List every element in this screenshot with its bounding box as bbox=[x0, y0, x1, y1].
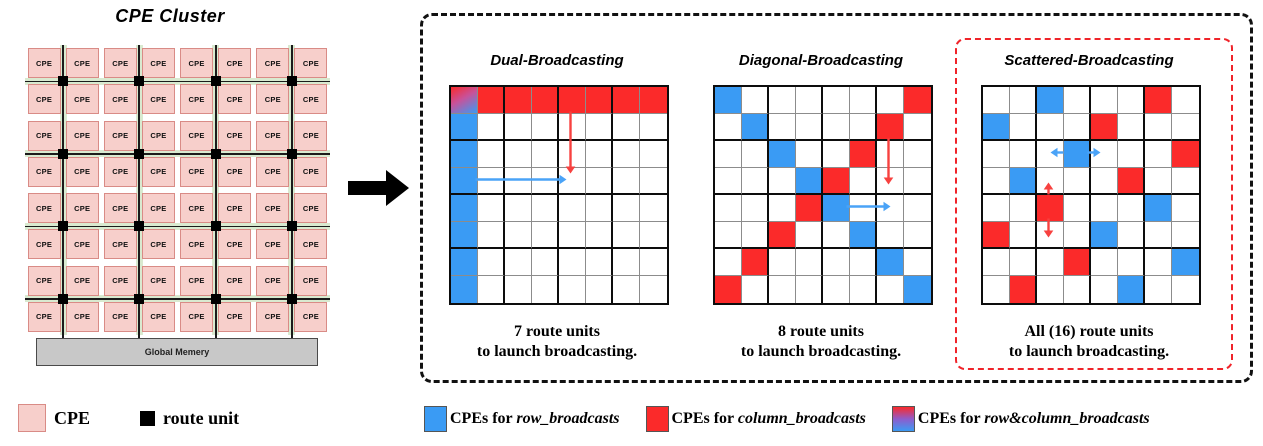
grid-cell[interactable] bbox=[1118, 114, 1145, 141]
grid-cell[interactable] bbox=[451, 168, 478, 195]
grid-cell[interactable] bbox=[478, 276, 505, 303]
cpe-box: CPE bbox=[142, 266, 175, 296]
grid-cell[interactable] bbox=[1172, 141, 1199, 168]
grid-cell[interactable] bbox=[796, 87, 823, 114]
route-unit[interactable] bbox=[211, 149, 221, 159]
grid-cell[interactable] bbox=[1118, 87, 1145, 114]
grid-cell[interactable] bbox=[1118, 222, 1145, 249]
grid-cell[interactable] bbox=[823, 249, 850, 276]
grid-cell[interactable] bbox=[850, 222, 877, 249]
grid-cell[interactable] bbox=[640, 87, 667, 114]
grid-cell[interactable] bbox=[904, 141, 931, 168]
cpe-cell[interactable]: CPE bbox=[292, 45, 330, 81]
grid-cell[interactable] bbox=[451, 114, 478, 141]
grid-cell[interactable] bbox=[850, 195, 877, 222]
broadcast-grid-scattered bbox=[981, 85, 1201, 305]
grid-cell[interactable] bbox=[559, 249, 586, 276]
grid-cell[interactable] bbox=[613, 87, 640, 114]
grid-cell[interactable] bbox=[640, 141, 667, 168]
cpe-cell[interactable]: CPE bbox=[139, 81, 177, 117]
cpe-box: CPE bbox=[104, 266, 137, 296]
grid-cell[interactable] bbox=[1037, 276, 1064, 303]
cpe-cell[interactable]: CPE bbox=[292, 190, 330, 226]
grid-cell[interactable] bbox=[1172, 168, 1199, 195]
grid-cell[interactable] bbox=[796, 168, 823, 195]
cpe-box: CPE bbox=[142, 157, 175, 187]
cpe-cell[interactable]: CPE bbox=[101, 226, 139, 262]
grid-cell[interactable] bbox=[877, 222, 904, 249]
grid-cell[interactable] bbox=[505, 168, 532, 195]
grid-cell[interactable] bbox=[613, 222, 640, 249]
cpe-cluster-panel: CPE Cluster CPECPECPECPECPECPECPECPECPEC… bbox=[0, 0, 415, 446]
grid-cell[interactable] bbox=[1118, 168, 1145, 195]
grid-cell[interactable] bbox=[451, 276, 478, 303]
cpe-box: CPE bbox=[256, 266, 289, 296]
grid-cell[interactable] bbox=[451, 141, 478, 168]
cpe-box: CPE bbox=[180, 266, 213, 296]
grid-cell[interactable] bbox=[983, 168, 1010, 195]
grid-cell[interactable] bbox=[1010, 168, 1037, 195]
grid-cell[interactable] bbox=[1091, 222, 1118, 249]
cpe-cell[interactable]: CPE bbox=[292, 226, 330, 262]
cpe-box: CPE bbox=[142, 229, 175, 259]
grid-cell[interactable] bbox=[451, 222, 478, 249]
grid-cell[interactable] bbox=[1037, 141, 1064, 168]
grid-cell[interactable] bbox=[796, 222, 823, 249]
grid-cell[interactable] bbox=[613, 141, 640, 168]
grid-cell[interactable] bbox=[796, 141, 823, 168]
legend-item-row-broadcasts: CPEs for row_broadcasts bbox=[424, 406, 620, 432]
cpe-cell[interactable]: CPE bbox=[139, 190, 177, 226]
route-unit[interactable] bbox=[287, 221, 297, 231]
caption-line-2: to launch broadcasting. bbox=[713, 342, 929, 362]
cpe-cell[interactable]: CPE bbox=[254, 226, 292, 262]
grid-cell[interactable] bbox=[1172, 222, 1199, 249]
route-unit[interactable] bbox=[58, 221, 68, 231]
grid-cell[interactable] bbox=[877, 168, 904, 195]
grid-cell[interactable] bbox=[532, 195, 559, 222]
grid-cell[interactable] bbox=[1172, 276, 1199, 303]
cpe-box: CPE bbox=[256, 302, 289, 332]
cpe-cell[interactable]: CPE bbox=[216, 263, 254, 299]
grid-cell[interactable] bbox=[769, 141, 796, 168]
grid-cell[interactable] bbox=[1091, 168, 1118, 195]
grid-cell[interactable] bbox=[1010, 141, 1037, 168]
grid-cell[interactable] bbox=[823, 114, 850, 141]
grid-cell[interactable] bbox=[1091, 276, 1118, 303]
grid-cell[interactable] bbox=[769, 195, 796, 222]
grid-cell[interactable] bbox=[769, 168, 796, 195]
grid-cell[interactable] bbox=[613, 249, 640, 276]
route-unit[interactable] bbox=[287, 76, 297, 86]
grid-cell[interactable] bbox=[559, 114, 586, 141]
grid-cell[interactable] bbox=[532, 222, 559, 249]
cpe-cell[interactable]: CPE bbox=[178, 154, 216, 190]
cpe-cell[interactable]: CPE bbox=[25, 299, 63, 335]
grid-cell[interactable] bbox=[769, 114, 796, 141]
grid-cell[interactable] bbox=[877, 141, 904, 168]
grid-cell[interactable] bbox=[715, 114, 742, 141]
cpe-box: CPE bbox=[104, 229, 137, 259]
cpe-box: CPE bbox=[66, 157, 99, 187]
grid-cell[interactable] bbox=[1118, 276, 1145, 303]
grid-cell[interactable] bbox=[478, 87, 505, 114]
caption-line-2: to launch broadcasting. bbox=[981, 342, 1197, 362]
grid-cell[interactable] bbox=[904, 195, 931, 222]
grid-cell[interactable] bbox=[532, 114, 559, 141]
grid-cell[interactable] bbox=[1172, 195, 1199, 222]
grid-cell[interactable] bbox=[796, 114, 823, 141]
cpe-cell[interactable]: CPE bbox=[216, 299, 254, 335]
grid-cell[interactable] bbox=[586, 168, 613, 195]
cpe-box: CPE bbox=[256, 229, 289, 259]
cpe-box: CPE bbox=[294, 84, 327, 114]
cpe-cell[interactable]: CPE bbox=[254, 154, 292, 190]
grid-cell[interactable] bbox=[640, 168, 667, 195]
grid-cell[interactable] bbox=[478, 222, 505, 249]
grid-cell[interactable] bbox=[559, 141, 586, 168]
grid-cell[interactable] bbox=[850, 114, 877, 141]
grid-cell[interactable] bbox=[613, 168, 640, 195]
cpe-cell[interactable]: CPE bbox=[139, 263, 177, 299]
grid-cell[interactable] bbox=[1172, 114, 1199, 141]
cpe-box: CPE bbox=[104, 193, 137, 223]
cpe-cell[interactable]: CPE bbox=[25, 81, 63, 117]
grid-cell[interactable] bbox=[715, 195, 742, 222]
grid-cell[interactable] bbox=[877, 114, 904, 141]
grid-cell[interactable] bbox=[904, 276, 931, 303]
panel-caption-scattered: All (16) route unitsto launch broadcasti… bbox=[981, 322, 1197, 361]
route-unit[interactable] bbox=[58, 76, 68, 86]
grid-cell[interactable] bbox=[505, 114, 532, 141]
grid-cell[interactable] bbox=[1037, 168, 1064, 195]
grid-cell[interactable] bbox=[742, 249, 769, 276]
grid-cell[interactable] bbox=[796, 249, 823, 276]
cpe-cell[interactable]: CPE bbox=[63, 81, 101, 117]
legend-item-column-broadcasts: CPEs for column_broadcasts bbox=[646, 406, 866, 432]
grid-cell[interactable] bbox=[715, 276, 742, 303]
grid-cell[interactable] bbox=[1118, 195, 1145, 222]
grid-cell[interactable] bbox=[586, 141, 613, 168]
cpe-cell[interactable]: CPE bbox=[101, 154, 139, 190]
cpe-cell[interactable]: CPE bbox=[292, 299, 330, 335]
grid-cell[interactable] bbox=[1064, 114, 1091, 141]
grid-cell[interactable] bbox=[1091, 87, 1118, 114]
cpe-cell[interactable]: CPE bbox=[292, 81, 330, 117]
route-unit[interactable] bbox=[58, 294, 68, 304]
grid-cell[interactable] bbox=[715, 87, 742, 114]
grid-cell[interactable] bbox=[1037, 87, 1064, 114]
grid-cell[interactable] bbox=[559, 195, 586, 222]
grid-cell[interactable] bbox=[451, 195, 478, 222]
grid-cell[interactable] bbox=[586, 222, 613, 249]
global-memory-block: Global Memery bbox=[36, 338, 318, 366]
grid-cell[interactable] bbox=[983, 195, 1010, 222]
grid-cell[interactable] bbox=[1010, 195, 1037, 222]
grid-cell[interactable] bbox=[904, 114, 931, 141]
cpe-cell[interactable]: CPE bbox=[139, 154, 177, 190]
grid-cell[interactable] bbox=[1145, 168, 1172, 195]
grid-cell[interactable] bbox=[1091, 249, 1118, 276]
grid-cell[interactable] bbox=[715, 222, 742, 249]
grid-cell[interactable] bbox=[1064, 276, 1091, 303]
grid-cell[interactable] bbox=[1145, 222, 1172, 249]
grid-cell[interactable] bbox=[1037, 114, 1064, 141]
cpe-row: CPECPECPECPECPECPECPECPE bbox=[25, 226, 330, 262]
cpe-cell[interactable]: CPE bbox=[139, 299, 177, 335]
caption-line-1: 8 route units bbox=[713, 322, 929, 342]
grid-cell[interactable] bbox=[1091, 195, 1118, 222]
grid-cell[interactable] bbox=[532, 141, 559, 168]
cpe-cell[interactable]: CPE bbox=[25, 226, 63, 262]
legend-label-row-column-broadcasts: CPEs for row&column_broadcasts bbox=[918, 410, 1150, 428]
grid-cell[interactable] bbox=[742, 168, 769, 195]
grid-cell[interactable] bbox=[877, 195, 904, 222]
broadcast-grid-dual bbox=[449, 85, 669, 305]
grid-cell[interactable] bbox=[742, 87, 769, 114]
grid-cell[interactable] bbox=[823, 222, 850, 249]
cpe-row: CPECPECPECPECPECPECPECPE bbox=[25, 118, 330, 154]
grid-cell[interactable] bbox=[1064, 195, 1091, 222]
cpe-cell[interactable]: CPE bbox=[178, 226, 216, 262]
grid-cell[interactable] bbox=[742, 222, 769, 249]
grid-cell[interactable] bbox=[559, 276, 586, 303]
cpe-box: CPE bbox=[180, 121, 213, 151]
grid-cell[interactable] bbox=[1172, 249, 1199, 276]
panel-caption-dual: 7 route unitsto launch broadcasting. bbox=[449, 322, 665, 361]
grid-cell[interactable] bbox=[586, 114, 613, 141]
cpe-row: CPECPECPECPECPECPECPECPE bbox=[25, 299, 330, 335]
cpe-cell[interactable]: CPE bbox=[139, 45, 177, 81]
cpe-cell[interactable]: CPE bbox=[216, 118, 254, 154]
grid-cell[interactable] bbox=[904, 222, 931, 249]
grid-cell[interactable] bbox=[904, 249, 931, 276]
grid-cell[interactable] bbox=[904, 168, 931, 195]
cpe-cell[interactable]: CPE bbox=[63, 263, 101, 299]
cpe-box: CPE bbox=[256, 121, 289, 151]
grid-cell[interactable] bbox=[1091, 141, 1118, 168]
grid-cell[interactable] bbox=[769, 222, 796, 249]
grid-cell[interactable] bbox=[823, 276, 850, 303]
grid-cell[interactable] bbox=[742, 195, 769, 222]
grid-cell[interactable] bbox=[850, 87, 877, 114]
grid-cell[interactable] bbox=[505, 276, 532, 303]
grid-cell[interactable] bbox=[983, 87, 1010, 114]
cpe-cell[interactable]: CPE bbox=[216, 45, 254, 81]
grid-cell[interactable] bbox=[823, 195, 850, 222]
cpe-cell[interactable]: CPE bbox=[178, 299, 216, 335]
cpe-cell[interactable]: CPE bbox=[216, 226, 254, 262]
grid-cell[interactable] bbox=[559, 222, 586, 249]
cpe-cell[interactable]: CPE bbox=[254, 81, 292, 117]
grid-cell[interactable] bbox=[715, 141, 742, 168]
grid-cell[interactable] bbox=[1118, 249, 1145, 276]
right-arrow-icon bbox=[348, 168, 410, 208]
grid-cell[interactable] bbox=[532, 87, 559, 114]
cpe-cell[interactable]: CPE bbox=[139, 226, 177, 262]
grid-cell[interactable] bbox=[451, 87, 478, 114]
grid-cell[interactable] bbox=[1118, 141, 1145, 168]
grid-cell[interactable] bbox=[904, 87, 931, 114]
cpe-box: CPE bbox=[66, 266, 99, 296]
cpe-cell[interactable]: CPE bbox=[178, 81, 216, 117]
grid-cell[interactable] bbox=[1064, 168, 1091, 195]
grid-cell[interactable] bbox=[505, 222, 532, 249]
cpe-box: CPE bbox=[28, 121, 61, 151]
cpe-cell[interactable]: CPE bbox=[139, 118, 177, 154]
grid-cell[interactable] bbox=[532, 249, 559, 276]
route-unit[interactable] bbox=[211, 221, 221, 231]
grid-cell[interactable] bbox=[850, 276, 877, 303]
grid-cell[interactable] bbox=[1064, 222, 1091, 249]
grid-cell[interactable] bbox=[877, 249, 904, 276]
cluster-title: CPE Cluster bbox=[0, 6, 340, 27]
grid-cell[interactable] bbox=[983, 222, 1010, 249]
grid-cell[interactable] bbox=[613, 276, 640, 303]
grid-cell[interactable] bbox=[586, 87, 613, 114]
grid-cell[interactable] bbox=[769, 87, 796, 114]
grid-cell[interactable] bbox=[640, 195, 667, 222]
grid-cell[interactable] bbox=[1010, 87, 1037, 114]
grid-cell[interactable] bbox=[613, 114, 640, 141]
cpe-cell[interactable]: CPE bbox=[254, 299, 292, 335]
grid-cell[interactable] bbox=[823, 168, 850, 195]
grid-cell[interactable] bbox=[823, 87, 850, 114]
grid-cell[interactable] bbox=[850, 168, 877, 195]
route-unit[interactable] bbox=[287, 294, 297, 304]
grid-cell[interactable] bbox=[1145, 114, 1172, 141]
grid-cell[interactable] bbox=[742, 276, 769, 303]
grid-cell[interactable] bbox=[742, 114, 769, 141]
grid-cell[interactable] bbox=[640, 222, 667, 249]
grid-cell[interactable] bbox=[1037, 195, 1064, 222]
grid-cell[interactable] bbox=[505, 249, 532, 276]
cpe-cell[interactable]: CPE bbox=[292, 154, 330, 190]
grid-cell[interactable] bbox=[796, 195, 823, 222]
grid-cell[interactable] bbox=[823, 141, 850, 168]
grid-cell[interactable] bbox=[715, 168, 742, 195]
grid-cell[interactable] bbox=[505, 141, 532, 168]
cpe-cell[interactable]: CPE bbox=[25, 154, 63, 190]
cpe-box: CPE bbox=[104, 302, 137, 332]
route-unit[interactable] bbox=[287, 149, 297, 159]
grid-cell[interactable] bbox=[1010, 276, 1037, 303]
route-unit[interactable] bbox=[211, 294, 221, 304]
grid-cell[interactable] bbox=[586, 276, 613, 303]
grid-cell[interactable] bbox=[613, 195, 640, 222]
route-unit[interactable] bbox=[58, 149, 68, 159]
grid-cell[interactable] bbox=[877, 87, 904, 114]
grid-cell[interactable] bbox=[532, 168, 559, 195]
grid-cell[interactable] bbox=[478, 141, 505, 168]
grid-cell[interactable] bbox=[983, 276, 1010, 303]
grid-cell[interactable] bbox=[715, 249, 742, 276]
grid-cell[interactable] bbox=[478, 168, 505, 195]
legend-label-route-unit: route unit bbox=[163, 408, 239, 429]
grid-cell[interactable] bbox=[559, 87, 586, 114]
caption-line-1: All (16) route units bbox=[981, 322, 1197, 342]
cpe-cell[interactable]: CPE bbox=[63, 299, 101, 335]
grid-cell[interactable] bbox=[983, 114, 1010, 141]
grid-cell[interactable] bbox=[1064, 141, 1091, 168]
cpe-box: CPE bbox=[104, 84, 137, 114]
grid-cell[interactable] bbox=[586, 195, 613, 222]
grid-cell[interactable] bbox=[983, 141, 1010, 168]
cpe-box: CPE bbox=[28, 48, 61, 78]
route-unit[interactable] bbox=[134, 149, 144, 159]
grid-cell[interactable] bbox=[850, 141, 877, 168]
grid-cell[interactable] bbox=[586, 249, 613, 276]
grid-cell[interactable] bbox=[1010, 114, 1037, 141]
cpe-cell[interactable]: CPE bbox=[63, 45, 101, 81]
grid-cell[interactable] bbox=[1037, 249, 1064, 276]
grid-cell[interactable] bbox=[983, 249, 1010, 276]
grid-cell[interactable] bbox=[640, 114, 667, 141]
grid-cell[interactable] bbox=[769, 276, 796, 303]
cpe-cell[interactable]: CPE bbox=[216, 190, 254, 226]
route-unit[interactable] bbox=[134, 76, 144, 86]
cpe-cell[interactable]: CPE bbox=[101, 299, 139, 335]
grid-cell[interactable] bbox=[877, 276, 904, 303]
grid-cell[interactable] bbox=[1064, 249, 1091, 276]
grid-cell[interactable] bbox=[1091, 114, 1118, 141]
grid-cell[interactable] bbox=[769, 249, 796, 276]
cpe-cell[interactable]: CPE bbox=[292, 263, 330, 299]
grid-cell[interactable] bbox=[505, 195, 532, 222]
grid-cell[interactable] bbox=[1145, 195, 1172, 222]
grid-cell[interactable] bbox=[505, 87, 532, 114]
grid-cell[interactable] bbox=[559, 168, 586, 195]
cpe-box: CPE bbox=[104, 157, 137, 187]
cpe-cell[interactable]: CPE bbox=[292, 118, 330, 154]
grid-cell[interactable] bbox=[478, 249, 505, 276]
cpe-cell[interactable]: CPE bbox=[63, 118, 101, 154]
cpe-cell[interactable]: CPE bbox=[63, 226, 101, 262]
cpe-cell[interactable]: CPE bbox=[216, 81, 254, 117]
cpe-cell[interactable]: CPE bbox=[101, 81, 139, 117]
route-unit[interactable] bbox=[134, 294, 144, 304]
cpe-box: CPE bbox=[142, 84, 175, 114]
grid-cell[interactable] bbox=[742, 141, 769, 168]
grid-cell[interactable] bbox=[1172, 87, 1199, 114]
grid-cell[interactable] bbox=[1145, 141, 1172, 168]
grid-cell[interactable] bbox=[1145, 87, 1172, 114]
blue-swatch-icon bbox=[424, 406, 447, 432]
route-unit[interactable] bbox=[134, 221, 144, 231]
legend-label-row-broadcasts: CPEs for row_broadcasts bbox=[450, 410, 620, 428]
grid-cell[interactable] bbox=[1145, 276, 1172, 303]
grid-cell[interactable] bbox=[478, 195, 505, 222]
grid-cell[interactable] bbox=[532, 276, 559, 303]
cpe-cell[interactable]: CPE bbox=[63, 190, 101, 226]
cpe-cell[interactable]: CPE bbox=[216, 154, 254, 190]
route-unit[interactable] bbox=[211, 76, 221, 86]
grid-cell[interactable] bbox=[1037, 222, 1064, 249]
grid-cell[interactable] bbox=[640, 276, 667, 303]
grid-cell[interactable] bbox=[451, 249, 478, 276]
grid-cell[interactable] bbox=[478, 114, 505, 141]
cpe-box: CPE bbox=[294, 266, 327, 296]
grid-cell[interactable] bbox=[796, 276, 823, 303]
grid-cell[interactable] bbox=[640, 249, 667, 276]
route-unit-swatch-icon bbox=[140, 411, 155, 426]
grid-cell[interactable] bbox=[1010, 249, 1037, 276]
grid-cell[interactable] bbox=[1145, 249, 1172, 276]
grid-cell[interactable] bbox=[1010, 222, 1037, 249]
grid-cell[interactable] bbox=[850, 249, 877, 276]
grid-cell[interactable] bbox=[1064, 87, 1091, 114]
cpe-cell[interactable]: CPE bbox=[63, 154, 101, 190]
